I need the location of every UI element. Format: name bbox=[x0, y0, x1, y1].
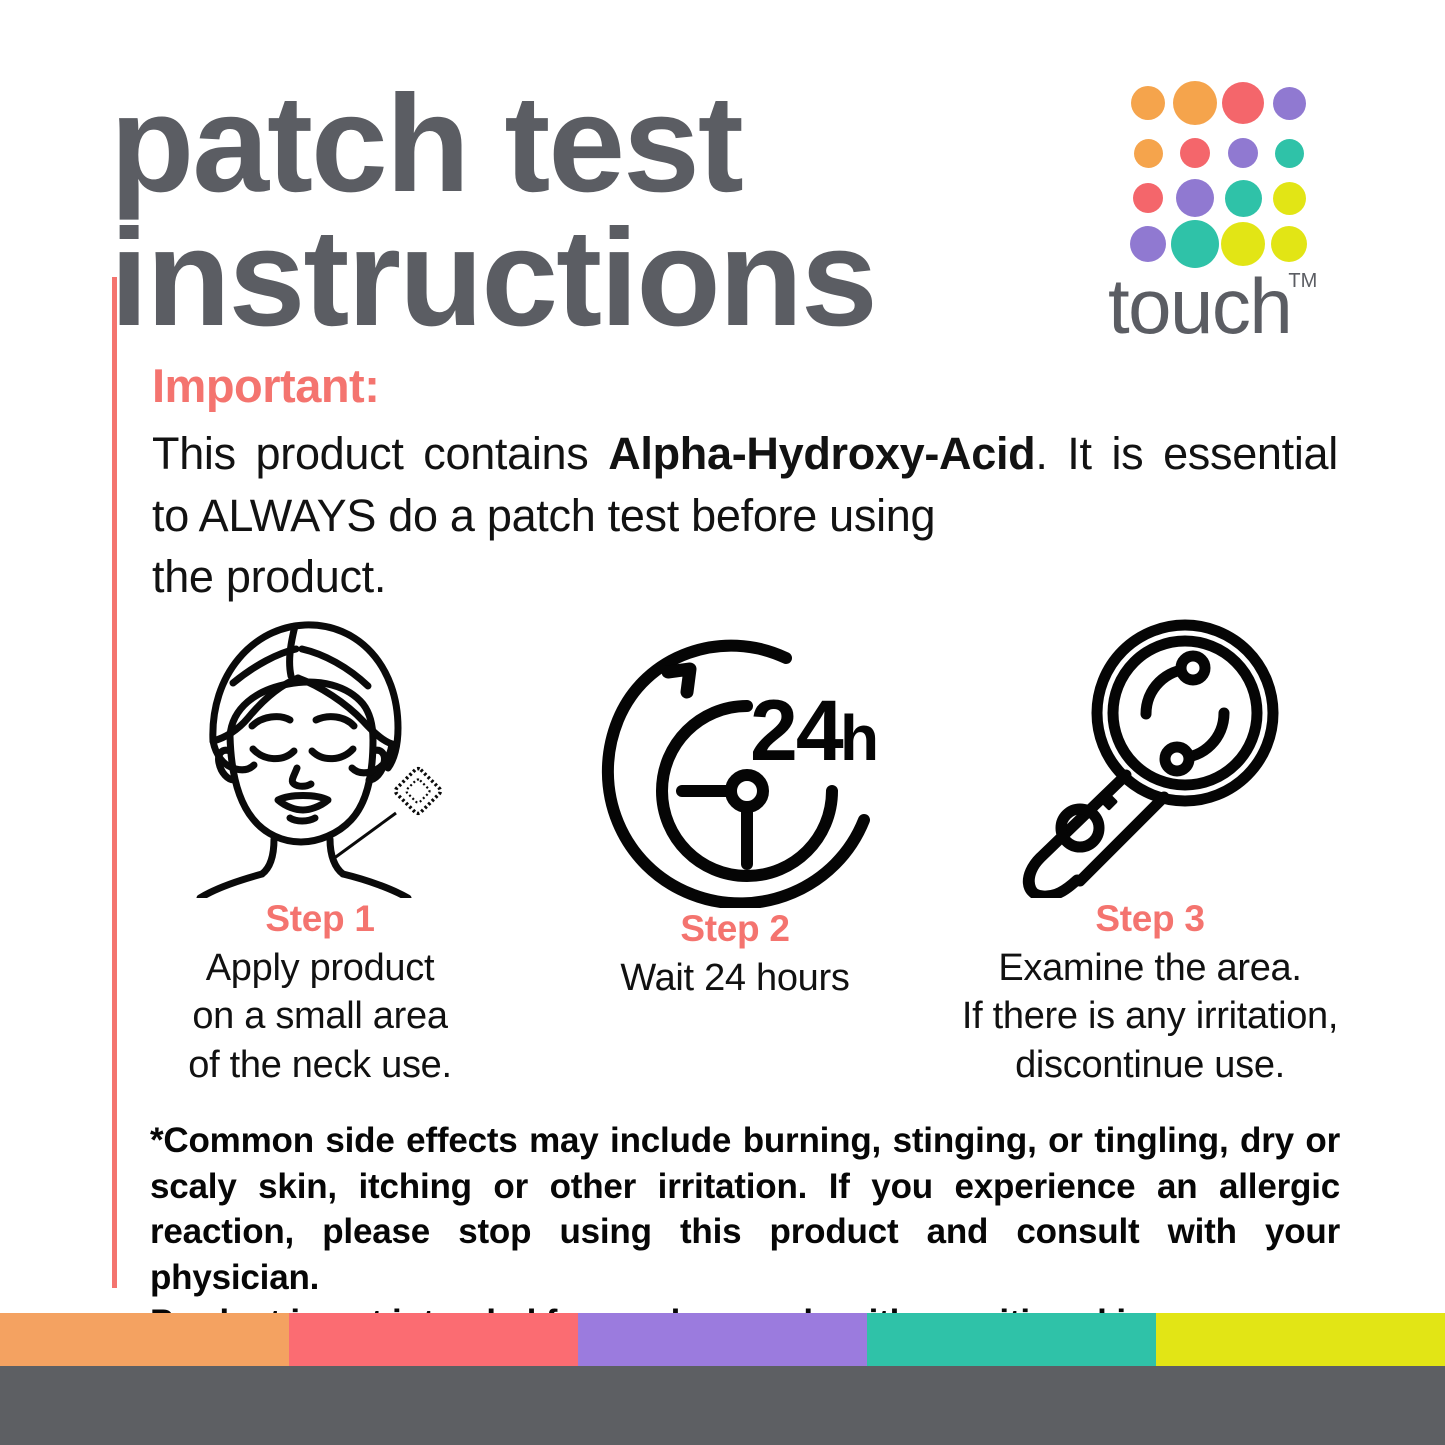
logo-dot-r2-c3 bbox=[1228, 138, 1258, 168]
step-2-description: Wait 24 hours bbox=[535, 954, 935, 1002]
title-line-secondary: instructions bbox=[110, 212, 1070, 346]
footnote-text: *Common side effects may include burning… bbox=[150, 1121, 1340, 1297]
intro-text-lastline: the product. bbox=[152, 546, 1338, 608]
step-3-illustration bbox=[950, 608, 1350, 898]
page-title: patch test instructions bbox=[110, 78, 1070, 346]
logo-dot-r1-c1 bbox=[1131, 86, 1165, 120]
step-3-desc-line-1: Examine the area. bbox=[950, 944, 1350, 992]
side-effects-footnote: *Common side effects may include burning… bbox=[150, 1118, 1340, 1346]
step-1-desc-line-1: Apply product bbox=[120, 944, 520, 992]
color-bar-segment-coral bbox=[289, 1313, 578, 1366]
logo-dot-r3-c3 bbox=[1225, 180, 1262, 217]
important-label: Important: bbox=[152, 362, 379, 409]
intro-text-before: This product contains bbox=[152, 428, 608, 479]
clock-24h-icon: 24 h bbox=[590, 628, 880, 908]
color-bar-segment-orange bbox=[0, 1313, 289, 1366]
logo-dot-r3-c1 bbox=[1133, 183, 1163, 213]
logo-dot-r2-c1 bbox=[1134, 139, 1163, 168]
logo-dot-r4-c2 bbox=[1171, 220, 1219, 268]
logo-dot-r3-c2 bbox=[1176, 179, 1214, 217]
logo-dot-r4-c1 bbox=[1130, 226, 1166, 262]
clock-24h-text: 24 bbox=[750, 683, 844, 779]
step-1-desc-line-2: on a small area bbox=[120, 992, 520, 1040]
step-3-description: Examine the area. If there is any irrita… bbox=[950, 944, 1350, 1089]
steps-row: Step 1 Apply product on a small area of … bbox=[120, 608, 1350, 1089]
title-line-primary: patch test bbox=[110, 78, 1070, 212]
color-bar-segment-teal bbox=[867, 1313, 1156, 1366]
trademark-symbol: TM bbox=[1288, 271, 1317, 291]
step-2-label: Step 2 bbox=[535, 908, 935, 950]
step-2-illustration: 24 h bbox=[535, 608, 935, 908]
logo-dot-r1-c4 bbox=[1273, 87, 1306, 120]
dot-grid-icon bbox=[1112, 76, 1312, 261]
step-3-desc-line-3: discontinue use. bbox=[950, 1041, 1350, 1089]
color-bar-segment-purple bbox=[578, 1313, 867, 1366]
logo-dot-r3-c4 bbox=[1273, 182, 1306, 215]
step-3-label: Step 3 bbox=[950, 898, 1350, 940]
footer-bar bbox=[0, 1366, 1445, 1445]
patch-test-instructions-page: patch test instructions touchTM Importan… bbox=[0, 0, 1445, 1445]
step-1-illustration bbox=[120, 608, 520, 898]
color-bar-segment-yellow bbox=[1156, 1313, 1445, 1366]
magnifying-glass-icon bbox=[1005, 613, 1295, 898]
step-1-label: Step 1 bbox=[120, 898, 520, 940]
brand-name-text: touch bbox=[1108, 262, 1291, 350]
callout-line bbox=[333, 813, 396, 859]
step-1-description: Apply product on a small area of the nec… bbox=[120, 944, 520, 1089]
clock-center-pin bbox=[731, 775, 763, 807]
step-1-desc-line-3: of the neck use. bbox=[120, 1041, 520, 1089]
logo-dot-r2-c4 bbox=[1275, 139, 1304, 168]
intro-paragraph: This product contains Alpha-Hydroxy-Acid… bbox=[152, 423, 1338, 608]
logo-dot-r2-c2 bbox=[1180, 138, 1210, 168]
left-accent-rule bbox=[112, 277, 117, 1288]
logo-dot-r4-c4 bbox=[1271, 226, 1307, 262]
logo-dot-r1-c2 bbox=[1173, 81, 1217, 125]
step-3-desc-line-2: If there is any irritation, bbox=[950, 992, 1350, 1040]
brand-color-bar bbox=[0, 1313, 1445, 1366]
curve-node-top bbox=[1181, 656, 1205, 680]
logo-dot-r4-c3 bbox=[1221, 222, 1265, 266]
step-3: Step 3 Examine the area. If there is any… bbox=[950, 608, 1350, 1089]
step-2-desc-line-1: Wait 24 hours bbox=[535, 954, 935, 1002]
brand-wordmark: touchTM bbox=[1108, 267, 1291, 345]
curve-node-bottom bbox=[1165, 747, 1189, 771]
intro-text-bold: Alpha-Hydroxy-Acid bbox=[608, 428, 1035, 479]
step-2: 24 h Step 2 Wait 24 hours bbox=[535, 608, 935, 1002]
clock-h-text: h bbox=[840, 702, 879, 774]
brand-logo: touchTM bbox=[1112, 76, 1327, 345]
step-1: Step 1 Apply product on a small area of … bbox=[120, 608, 520, 1089]
patch-icon bbox=[394, 767, 442, 815]
logo-dot-r1-c3 bbox=[1222, 82, 1264, 124]
face-with-towel-and-patch-icon bbox=[170, 608, 470, 898]
